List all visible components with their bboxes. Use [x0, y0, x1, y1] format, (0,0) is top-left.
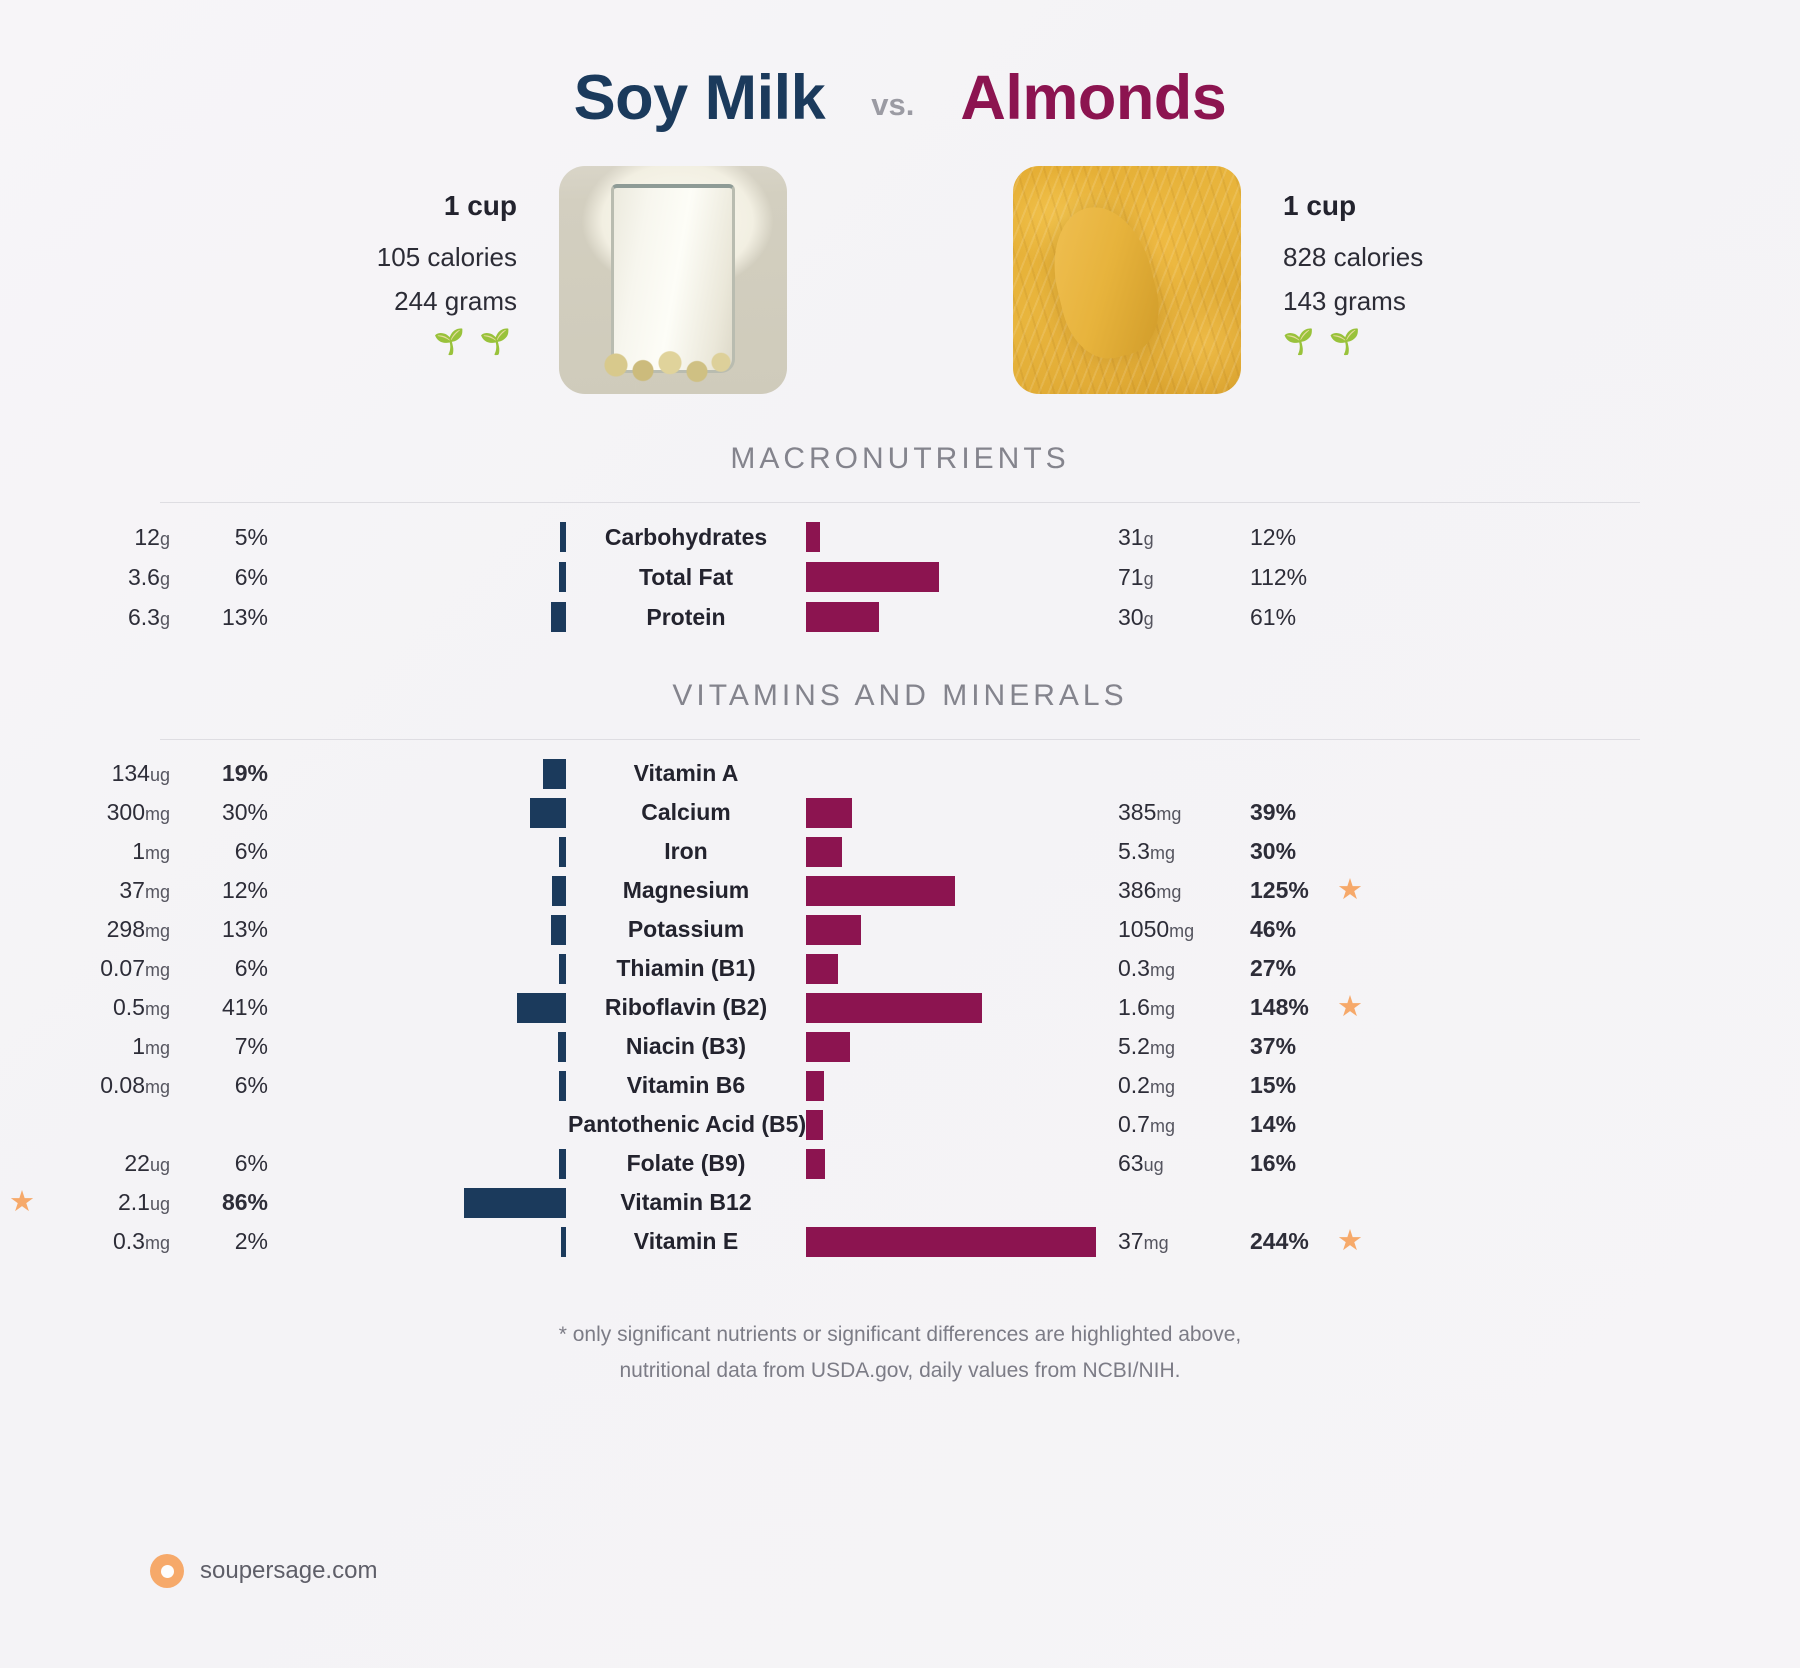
- right-nutrient-value: 0.7mg: [1104, 1111, 1232, 1138]
- left-bar: [559, 954, 566, 984]
- star-placeholder: ★: [1328, 1149, 1372, 1178]
- left-daily-value-percent: 86%: [172, 1189, 268, 1216]
- right-bar-track: [804, 798, 1104, 828]
- footnote: * only significant nutrients or signific…: [0, 1317, 1800, 1388]
- nutrient-row: ★6.3g13%Protein30g61%★: [0, 597, 1800, 637]
- nutrient-label: Vitamin B6: [568, 1072, 804, 1099]
- left-bar-track: [268, 562, 568, 592]
- star-placeholder: ★: [0, 993, 44, 1022]
- left-bar-track: [268, 954, 568, 984]
- left-bar-track: [268, 1071, 568, 1101]
- nutrient-label: Total Fat: [568, 564, 804, 591]
- right-nutrient-value: 0.2mg: [1104, 1072, 1232, 1099]
- right-nutrient-value: 5.3mg: [1104, 838, 1232, 865]
- left-grams: 244 grams: [259, 286, 517, 317]
- right-daily-value-percent: 46%: [1232, 916, 1328, 943]
- right-daily-value-percent: 14%: [1232, 1111, 1328, 1138]
- star-placeholder: ★: [0, 798, 44, 827]
- left-bar-track: [268, 915, 568, 945]
- left-daily-value-percent: 13%: [172, 916, 268, 943]
- star-placeholder: ★: [0, 1227, 44, 1256]
- star-placeholder: ★: [1328, 1188, 1372, 1217]
- nutrient-row: ★3.6g6%Total Fat71g112%★: [0, 557, 1800, 597]
- vitamin-mineral-rows: ★134ug19%Vitamin A★★300mg30%Calcium385mg…: [0, 754, 1800, 1261]
- nutrient-label: Iron: [568, 838, 804, 865]
- footnote-line-1: * only significant nutrients or signific…: [0, 1317, 1800, 1353]
- nutrient-row: ★134ug19%Vitamin A★: [0, 754, 1800, 793]
- right-nutrient-value: 5.2mg: [1104, 1033, 1232, 1060]
- right-daily-value-percent: 125%: [1232, 877, 1328, 904]
- right-daily-value-percent: 16%: [1232, 1150, 1328, 1177]
- macronutrient-rows: ★12g5%Carbohydrates31g12%★★3.6g6%Total F…: [0, 517, 1800, 637]
- nutrient-label: Calcium: [568, 799, 804, 826]
- left-bar-track: [268, 798, 568, 828]
- right-bar: [806, 602, 879, 632]
- right-daily-value-percent: 39%: [1232, 799, 1328, 826]
- nutrient-label: Folate (B9): [568, 1150, 804, 1177]
- right-bar-track: [804, 522, 1104, 552]
- right-grams: 143 grams: [1283, 286, 1541, 317]
- right-daily-value-percent: 112%: [1232, 564, 1328, 591]
- star-placeholder: ★: [0, 1071, 44, 1100]
- nutrient-row: ★1mg7%Niacin (B3)5.2mg37%★: [0, 1027, 1800, 1066]
- right-nutrient-value: 71g: [1104, 564, 1232, 591]
- vitamins-heading: VITAMINS AND MINERALS: [0, 679, 1800, 713]
- left-nutrient-value: 134ug: [44, 760, 172, 787]
- left-daily-value-percent: 5%: [172, 524, 268, 551]
- right-calories: 828 calories: [1283, 242, 1541, 273]
- star-placeholder: ★: [1328, 1032, 1372, 1061]
- serving-summary-row: 1 cup 105 calories 244 grams 🌱 🌱 1 cup 8…: [0, 166, 1800, 394]
- nutrient-label: Potassium: [568, 916, 804, 943]
- star-placeholder: ★: [0, 1032, 44, 1061]
- right-bar-track: [804, 954, 1104, 984]
- left-bar-track: [268, 1149, 568, 1179]
- right-vegan-sprout-icon: 🌱 🌱: [1283, 330, 1541, 355]
- star-placeholder: ★: [0, 837, 44, 866]
- left-daily-value-percent: 13%: [172, 604, 268, 631]
- left-nutrient-value: 0.08mg: [44, 1072, 172, 1099]
- right-bar-track: [804, 876, 1104, 906]
- title-row: Soy Milk vs. Almonds: [0, 0, 1800, 134]
- left-bar-track: [268, 837, 568, 867]
- left-bar-track: [268, 876, 568, 906]
- star-placeholder: ★: [1328, 1071, 1372, 1100]
- infographic-page: Soy Milk vs. Almonds 1 cup 105 calories …: [0, 0, 1800, 1668]
- nutrient-row: ★300mg30%Calcium385mg39%★: [0, 793, 1800, 832]
- right-bar-track: [804, 1227, 1104, 1257]
- left-daily-value-percent: 30%: [172, 799, 268, 826]
- right-serving-block: 1 cup 828 calories 143 grams 🌱 🌱: [1241, 166, 1541, 355]
- nutrient-label: Thiamin (B1): [568, 955, 804, 982]
- right-nutrient-value: 385mg: [1104, 799, 1232, 826]
- nutrient-row: ★22ug6%Folate (B9)63ug16%★: [0, 1144, 1800, 1183]
- star-placeholder: ★: [1328, 603, 1372, 632]
- nutrient-label: Vitamin B12: [568, 1189, 804, 1216]
- star-placeholder: ★: [1328, 837, 1372, 866]
- right-bar: [806, 1032, 850, 1062]
- right-bar: [806, 915, 861, 945]
- star-placeholder: ★: [0, 915, 44, 944]
- left-nutrient-value: 6.3g: [44, 604, 172, 631]
- left-bar: [543, 759, 566, 789]
- right-bar-track: [804, 837, 1104, 867]
- left-daily-value-percent: 6%: [172, 564, 268, 591]
- vitamins-divider: [160, 739, 1640, 740]
- left-bar: [552, 876, 566, 906]
- right-serving-amount: 1 cup: [1283, 190, 1541, 222]
- star-placeholder: ★: [1328, 798, 1372, 827]
- nutrient-row: ★2.1ug86%Vitamin B12★: [0, 1183, 1800, 1222]
- right-daily-value-percent: 148%: [1232, 994, 1328, 1021]
- right-bar-track: [804, 1149, 1104, 1179]
- left-serving-amount: 1 cup: [259, 190, 517, 222]
- star-placeholder: ★: [1328, 563, 1372, 592]
- left-daily-value-percent: 7%: [172, 1033, 268, 1060]
- left-bar-track: [268, 1188, 568, 1218]
- left-bar-track: [268, 1227, 568, 1257]
- right-nutrient-value: 30g: [1104, 604, 1232, 631]
- left-bar: [558, 1032, 566, 1062]
- right-nutrient-value: 1.6mg: [1104, 994, 1232, 1021]
- left-bar: [464, 1188, 566, 1218]
- right-bar: [806, 1071, 824, 1101]
- right-bar-track: [804, 1071, 1104, 1101]
- star-placeholder: ★: [0, 603, 44, 632]
- right-food-title: Almonds: [960, 62, 1226, 134]
- left-bar: [559, 1149, 566, 1179]
- right-daily-value-percent: 37%: [1232, 1033, 1328, 1060]
- left-calories: 105 calories: [259, 242, 517, 273]
- left-nutrient-value: 22ug: [44, 1150, 172, 1177]
- nutrient-row: ★12g5%Carbohydrates31g12%★: [0, 517, 1800, 557]
- left-nutrient-value: 0.3mg: [44, 1228, 172, 1255]
- nutrient-row: ★37mg12%Magnesium386mg125%★: [0, 871, 1800, 910]
- star-placeholder: ★: [1328, 954, 1372, 983]
- nutrient-label: Magnesium: [568, 877, 804, 904]
- left-daily-value-percent: 6%: [172, 955, 268, 982]
- nutrient-row: ★0.3mg2%Vitamin E37mg244%★: [0, 1222, 1800, 1261]
- left-bar-track: [268, 522, 568, 552]
- right-daily-value-percent: 15%: [1232, 1072, 1328, 1099]
- nutrient-label: Carbohydrates: [568, 524, 804, 551]
- right-bar-track: [804, 602, 1104, 632]
- left-bar-track: [268, 1032, 568, 1062]
- macronutrients-heading: MACRONUTRIENTS: [0, 442, 1800, 476]
- right-nutrient-value: 31g: [1104, 524, 1232, 551]
- right-bar-track: [804, 562, 1104, 592]
- star-placeholder: ★: [0, 759, 44, 788]
- right-bar: [806, 1110, 823, 1140]
- nutrient-row: ★298mg13%Potassium1050mg46%★: [0, 910, 1800, 949]
- nutrient-row: ★0.07mg6%Thiamin (B1)0.3mg27%★: [0, 949, 1800, 988]
- right-daily-value-percent: 27%: [1232, 955, 1328, 982]
- left-daily-value-percent: 6%: [172, 1072, 268, 1099]
- right-nutrient-value: 37mg: [1104, 1228, 1232, 1255]
- right-daily-value-percent: 12%: [1232, 524, 1328, 551]
- right-nutrient-value: 0.3mg: [1104, 955, 1232, 982]
- left-daily-value-percent: 6%: [172, 1150, 268, 1177]
- left-nutrient-value: 12g: [44, 524, 172, 551]
- right-daily-value-percent: 30%: [1232, 838, 1328, 865]
- right-nutrient-value: 1050mg: [1104, 916, 1232, 943]
- right-bar: [806, 1227, 1096, 1257]
- right-bar-track: [804, 993, 1104, 1023]
- left-daily-value-percent: 19%: [172, 760, 268, 787]
- left-serving-block: 1 cup 105 calories 244 grams 🌱 🌱: [259, 166, 559, 355]
- right-bar: [806, 562, 939, 592]
- left-bar: [530, 798, 566, 828]
- left-daily-value-percent: 6%: [172, 838, 268, 865]
- star-placeholder: ★: [0, 523, 44, 552]
- brand-name: soupersage.com: [200, 1557, 377, 1585]
- left-bar: [560, 522, 566, 552]
- right-nutrient-value: 63ug: [1104, 1150, 1232, 1177]
- left-bar: [561, 1227, 566, 1257]
- nutrient-label: Vitamin E: [568, 1228, 804, 1255]
- right-bar-track: [804, 915, 1104, 945]
- star-placeholder: ★: [1328, 523, 1372, 552]
- star-placeholder: ★: [0, 1110, 44, 1139]
- highlight-star-icon: ★: [1328, 993, 1372, 1022]
- right-daily-value-percent: 244%: [1232, 1228, 1328, 1255]
- star-placeholder: ★: [0, 563, 44, 592]
- star-placeholder: ★: [1328, 759, 1372, 788]
- left-bar-track: [268, 602, 568, 632]
- nutrient-row: ★0.08mg6%Vitamin B60.2mg15%★: [0, 1066, 1800, 1105]
- almonds-photo: [1013, 166, 1241, 394]
- right-nutrient-value: 386mg: [1104, 877, 1232, 904]
- left-bar: [559, 1071, 566, 1101]
- left-daily-value-percent: 12%: [172, 877, 268, 904]
- left-food-title: Soy Milk: [574, 62, 826, 134]
- left-daily-value-percent: 2%: [172, 1228, 268, 1255]
- left-bar: [551, 602, 566, 632]
- nutrient-label: Riboflavin (B2): [568, 994, 804, 1021]
- left-daily-value-percent: 41%: [172, 994, 268, 1021]
- macros-divider: [160, 502, 1640, 503]
- left-nutrient-value: 0.5mg: [44, 994, 172, 1021]
- right-bar: [806, 954, 838, 984]
- nutrient-row: ★1mg6%Iron5.3mg30%★: [0, 832, 1800, 871]
- left-nutrient-value: 300mg: [44, 799, 172, 826]
- right-bar: [806, 876, 955, 906]
- nutrient-row: ★0.5mg41%Riboflavin (B2)1.6mg148%★: [0, 988, 1800, 1027]
- left-bar: [559, 562, 566, 592]
- brand-footer[interactable]: soupersage.com: [150, 1554, 377, 1588]
- left-bar-track: [268, 759, 568, 789]
- right-bar: [806, 522, 820, 552]
- nutrient-label: Vitamin A: [568, 760, 804, 787]
- highlight-star-icon: ★: [1328, 876, 1372, 905]
- right-bar: [806, 798, 852, 828]
- left-nutrient-value: 0.07mg: [44, 955, 172, 982]
- star-placeholder: ★: [0, 876, 44, 905]
- right-daily-value-percent: 61%: [1232, 604, 1328, 631]
- star-placeholder: ★: [1328, 915, 1372, 944]
- left-bar: [517, 993, 566, 1023]
- left-nutrient-value: 1mg: [44, 1033, 172, 1060]
- right-bar: [806, 1149, 825, 1179]
- highlight-star-icon: ★: [1328, 1227, 1372, 1256]
- left-nutrient-value: 298mg: [44, 916, 172, 943]
- right-bar-track: [804, 1032, 1104, 1062]
- left-bar: [551, 915, 566, 945]
- right-bar: [806, 837, 842, 867]
- left-nutrient-value: 37mg: [44, 877, 172, 904]
- star-placeholder: ★: [0, 954, 44, 983]
- nutrient-label: Niacin (B3): [568, 1033, 804, 1060]
- left-nutrient-value: 3.6g: [44, 564, 172, 591]
- right-bar-track: [804, 1110, 1104, 1140]
- nutrient-label: Pantothenic Acid (B5): [568, 1111, 804, 1138]
- right-bar: [806, 993, 982, 1023]
- soy-milk-photo: [559, 166, 787, 394]
- star-placeholder: ★: [1328, 1110, 1372, 1139]
- nutrient-row: ★Pantothenic Acid (B5)0.7mg14%★: [0, 1105, 1800, 1144]
- star-placeholder: ★: [0, 1149, 44, 1178]
- highlight-star-icon: ★: [0, 1188, 44, 1217]
- left-bar: [559, 837, 566, 867]
- left-nutrient-value: 1mg: [44, 838, 172, 865]
- soupersage-logo-icon: [150, 1554, 184, 1588]
- nutrient-label: Protein: [568, 604, 804, 631]
- left-vegan-sprout-icon: 🌱 🌱: [259, 330, 517, 355]
- left-nutrient-value: 2.1ug: [44, 1189, 172, 1216]
- vs-label: vs.: [871, 87, 914, 123]
- footnote-line-2: nutritional data from USDA.gov, daily va…: [0, 1353, 1800, 1389]
- left-bar-track: [268, 993, 568, 1023]
